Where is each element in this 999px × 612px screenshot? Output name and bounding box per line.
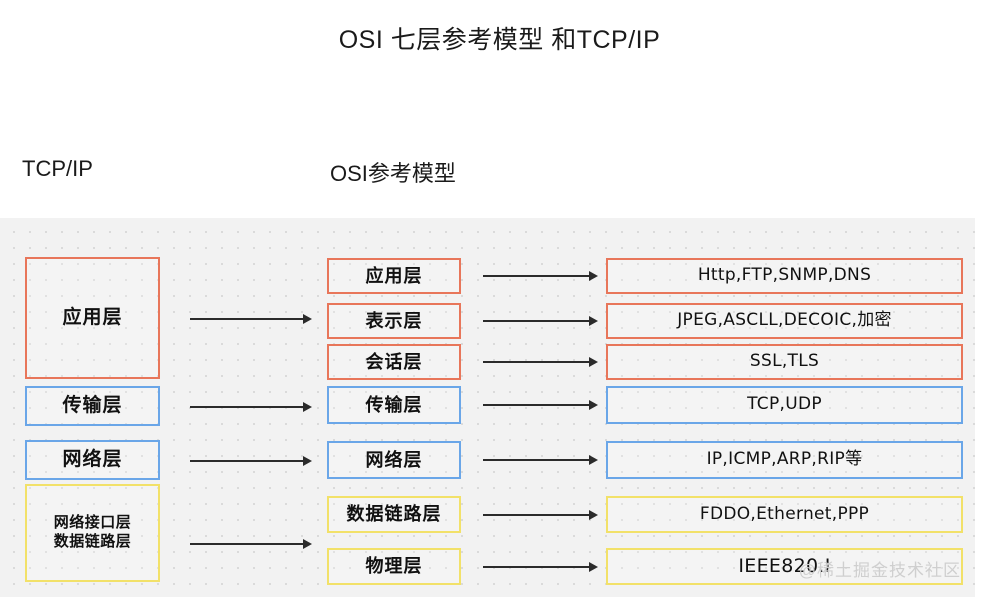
column-header-osi: OSI参考模型 — [330, 156, 456, 188]
arrow-osi-to-protocol-application — [483, 270, 598, 282]
arrow-head — [589, 562, 598, 572]
arrow-tcpip-to-osi-link — [190, 538, 312, 550]
arrow-shaft — [483, 320, 589, 322]
protocol-data-link[interactable]: FDDO,Ethernet,PPP — [606, 496, 963, 533]
arrow-shaft — [483, 566, 589, 568]
arrow-head — [303, 314, 312, 324]
tcpip-layer-network-interface[interactable]: 网络接口层 数据链路层 — [25, 484, 160, 582]
arrow-tcpip-to-osi-transport — [190, 401, 312, 413]
tcpip-layer-network-interface-line1: 网络接口层 — [54, 514, 132, 533]
tcpip-layer-network-interface-line2: 数据链路层 — [54, 533, 132, 552]
arrow-head — [303, 456, 312, 466]
canvas-right-padding — [975, 218, 999, 597]
diagram-canvas: 应用层 传输层 网络层 网络接口层 数据链路层 应用层 表示层 会话层 传输层 — [0, 218, 999, 597]
tcpip-layer-network[interactable]: 网络层 — [25, 440, 160, 480]
protocol-transport[interactable]: TCP,UDP — [606, 386, 963, 424]
arrow-head — [303, 539, 312, 549]
arrow-head — [589, 271, 598, 281]
arrow-osi-to-protocol-transport — [483, 399, 598, 411]
arrow-shaft — [190, 318, 303, 320]
arrow-osi-to-protocol-data-link — [483, 509, 598, 521]
osi-layer-application[interactable]: 应用层 — [327, 258, 461, 294]
arrow-head — [589, 357, 598, 367]
protocol-session[interactable]: SSL,TLS — [606, 344, 963, 380]
arrow-shaft — [190, 406, 303, 408]
protocol-network[interactable]: IP,ICMP,ARP,RIP等 — [606, 441, 963, 479]
arrow-osi-to-protocol-network — [483, 454, 598, 466]
arrow-tcpip-to-osi-application — [190, 313, 312, 325]
tcpip-layer-application[interactable]: 应用层 — [25, 257, 160, 379]
protocol-presentation[interactable]: JPEG,ASCLL,DECOIC,加密 — [606, 303, 963, 339]
osi-layer-session[interactable]: 会话层 — [327, 344, 461, 380]
arrow-shaft — [483, 459, 589, 461]
arrow-shaft — [483, 514, 589, 516]
diagram-canvas-inner: 应用层 传输层 网络层 网络接口层 数据链路层 应用层 表示层 会话层 传输层 — [0, 218, 975, 597]
osi-layer-network[interactable]: 网络层 — [327, 441, 461, 479]
arrow-head — [589, 510, 598, 520]
arrow-head — [589, 316, 598, 326]
column-header-tcpip: TCP/IP — [22, 156, 93, 182]
arrow-shaft — [190, 460, 303, 462]
arrow-shaft — [483, 275, 589, 277]
osi-layer-physical[interactable]: 物理层 — [327, 548, 461, 585]
osi-layer-presentation[interactable]: 表示层 — [327, 303, 461, 339]
tcpip-layer-transport[interactable]: 传输层 — [25, 386, 160, 426]
arrow-shaft — [190, 543, 303, 545]
arrow-head — [589, 400, 598, 410]
osi-layer-transport[interactable]: 传输层 — [327, 386, 461, 424]
page-title: OSI 七层参考模型 和TCP/IP — [0, 20, 999, 56]
watermark: @稀土掘金技术社区 — [799, 556, 961, 581]
arrow-shaft — [483, 361, 589, 363]
arrow-tcpip-to-osi-network — [190, 455, 312, 467]
osi-layer-data-link[interactable]: 数据链路层 — [327, 496, 461, 533]
arrow-shaft — [483, 404, 589, 406]
arrow-head — [303, 402, 312, 412]
arrow-head — [589, 455, 598, 465]
protocol-application[interactable]: Http,FTP,SNMP,DNS — [606, 258, 963, 294]
arrow-osi-to-protocol-presentation — [483, 315, 598, 327]
arrow-osi-to-protocol-physical — [483, 561, 598, 573]
arrow-osi-to-protocol-session — [483, 356, 598, 368]
